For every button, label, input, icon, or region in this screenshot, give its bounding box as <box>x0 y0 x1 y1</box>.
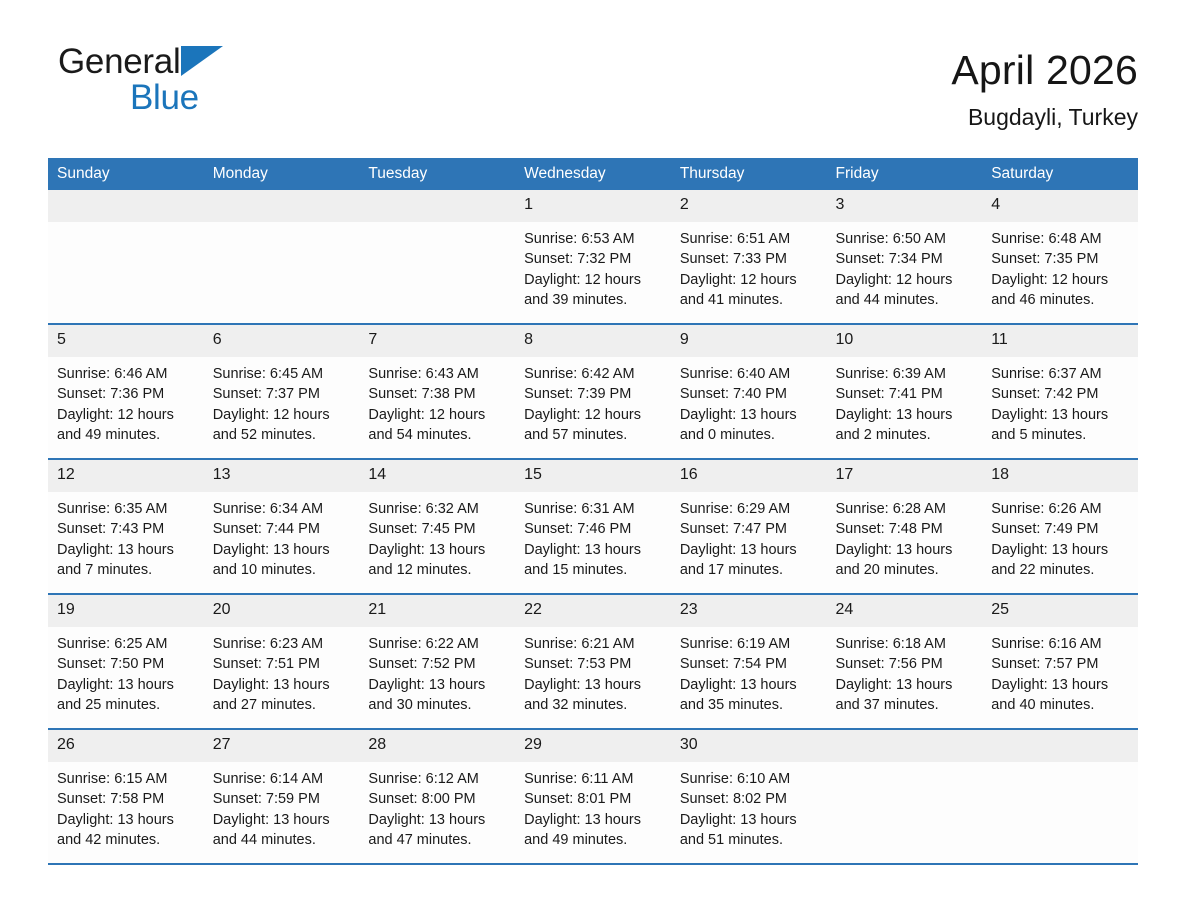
weekday-header-saturday: Saturday <box>982 158 1138 190</box>
sunset-text: Sunset: 7:57 PM <box>991 654 1132 674</box>
calendar-day-cell[interactable]: 15Sunrise: 6:31 AMSunset: 7:46 PMDayligh… <box>515 459 671 594</box>
sunset-text: Sunset: 7:48 PM <box>836 519 977 539</box>
day-number: 16 <box>671 460 827 492</box>
sunrise-text: Sunrise: 6:51 AM <box>680 229 821 249</box>
daylight-text: Daylight: 13 hours <box>213 675 354 695</box>
calendar-day-cell[interactable]: 11Sunrise: 6:37 AMSunset: 7:42 PMDayligh… <box>982 324 1138 459</box>
sunset-text: Sunset: 7:32 PM <box>524 249 665 269</box>
daylight-text: Daylight: 12 hours <box>680 270 821 290</box>
calendar-day-cell[interactable]: 7Sunrise: 6:43 AMSunset: 7:38 PMDaylight… <box>359 324 515 459</box>
daylight-text-cont: and 42 minutes. <box>57 830 198 850</box>
day-number: 9 <box>671 325 827 357</box>
calendar-day-cell[interactable]: 10Sunrise: 6:39 AMSunset: 7:41 PMDayligh… <box>827 324 983 459</box>
sunset-text: Sunset: 7:52 PM <box>368 654 509 674</box>
calendar-week-row: 12Sunrise: 6:35 AMSunset: 7:43 PMDayligh… <box>48 459 1138 594</box>
day-number: 25 <box>982 595 1138 627</box>
sunrise-text: Sunrise: 6:29 AM <box>680 499 821 519</box>
day-details: Sunrise: 6:12 AMSunset: 8:00 PMDaylight:… <box>359 762 515 851</box>
day-number: 28 <box>359 730 515 762</box>
sunrise-text: Sunrise: 6:18 AM <box>836 634 977 654</box>
sunset-text: Sunset: 7:35 PM <box>991 249 1132 269</box>
sunrise-text: Sunrise: 6:19 AM <box>680 634 821 654</box>
day-number: 30 <box>671 730 827 762</box>
calendar-day-cell[interactable]: 20Sunrise: 6:23 AMSunset: 7:51 PMDayligh… <box>204 594 360 729</box>
daylight-text: Daylight: 13 hours <box>680 540 821 560</box>
sunrise-text: Sunrise: 6:37 AM <box>991 364 1132 384</box>
sunset-text: Sunset: 7:39 PM <box>524 384 665 404</box>
sunrise-text: Sunrise: 6:21 AM <box>524 634 665 654</box>
daylight-text-cont: and 35 minutes. <box>680 695 821 715</box>
day-number: 12 <box>48 460 204 492</box>
logo-top-row: General <box>58 44 298 79</box>
page-title: April 2026 <box>951 46 1138 94</box>
calendar-day-cell[interactable]: 3Sunrise: 6:50 AMSunset: 7:34 PMDaylight… <box>827 190 983 324</box>
sunset-text: Sunset: 7:33 PM <box>680 249 821 269</box>
calendar-day-cell[interactable]: 29Sunrise: 6:11 AMSunset: 8:01 PMDayligh… <box>515 729 671 864</box>
day-details: Sunrise: 6:18 AMSunset: 7:56 PMDaylight:… <box>827 627 983 716</box>
sunset-text: Sunset: 7:59 PM <box>213 789 354 809</box>
daylight-text: Daylight: 13 hours <box>680 810 821 830</box>
daylight-text: Daylight: 12 hours <box>57 405 198 425</box>
sunrise-text: Sunrise: 6:11 AM <box>524 769 665 789</box>
day-number: 7 <box>359 325 515 357</box>
day-details: Sunrise: 6:39 AMSunset: 7:41 PMDaylight:… <box>827 357 983 446</box>
day-details: Sunrise: 6:45 AMSunset: 7:37 PMDaylight:… <box>204 357 360 446</box>
day-number: 2 <box>671 190 827 222</box>
daylight-text: Daylight: 12 hours <box>368 405 509 425</box>
sunset-text: Sunset: 8:02 PM <box>680 789 821 809</box>
day-number: 27 <box>204 730 360 762</box>
day-number: 22 <box>515 595 671 627</box>
calendar-week-row: 5Sunrise: 6:46 AMSunset: 7:36 PMDaylight… <box>48 324 1138 459</box>
calendar-day-cell[interactable]: 18Sunrise: 6:26 AMSunset: 7:49 PMDayligh… <box>982 459 1138 594</box>
day-number: 1 <box>515 190 671 222</box>
day-details: Sunrise: 6:35 AMSunset: 7:43 PMDaylight:… <box>48 492 204 581</box>
daylight-text-cont: and 0 minutes. <box>680 425 821 445</box>
daylight-text: Daylight: 13 hours <box>991 540 1132 560</box>
sunset-text: Sunset: 7:49 PM <box>991 519 1132 539</box>
daylight-text: Daylight: 13 hours <box>368 540 509 560</box>
calendar-day-cell[interactable]: 19Sunrise: 6:25 AMSunset: 7:50 PMDayligh… <box>48 594 204 729</box>
calendar-day-cell-empty <box>359 190 515 324</box>
calendar-day-cell[interactable]: 6Sunrise: 6:45 AMSunset: 7:37 PMDaylight… <box>204 324 360 459</box>
day-details: Sunrise: 6:29 AMSunset: 7:47 PMDaylight:… <box>671 492 827 581</box>
sunset-text: Sunset: 8:00 PM <box>368 789 509 809</box>
generalblue-logo[interactable]: General Blue <box>58 44 298 120</box>
sunset-text: Sunset: 7:51 PM <box>213 654 354 674</box>
sunrise-text: Sunrise: 6:28 AM <box>836 499 977 519</box>
day-details: Sunrise: 6:23 AMSunset: 7:51 PMDaylight:… <box>204 627 360 716</box>
daylight-text: Daylight: 13 hours <box>524 540 665 560</box>
calendar-day-cell[interactable]: 27Sunrise: 6:14 AMSunset: 7:59 PMDayligh… <box>204 729 360 864</box>
daylight-text-cont: and 52 minutes. <box>213 425 354 445</box>
day-number: 17 <box>827 460 983 492</box>
weekday-header-monday: Monday <box>204 158 360 190</box>
daylight-text: Daylight: 13 hours <box>524 675 665 695</box>
daylight-text-cont: and 2 minutes. <box>836 425 977 445</box>
daylight-text: Daylight: 13 hours <box>680 405 821 425</box>
daylight-text-cont: and 46 minutes. <box>991 290 1132 310</box>
day-number <box>359 190 515 222</box>
daylight-text-cont: and 39 minutes. <box>524 290 665 310</box>
daylight-text-cont: and 7 minutes. <box>57 560 198 580</box>
daylight-text-cont: and 41 minutes. <box>680 290 821 310</box>
calendar-week-row: 26Sunrise: 6:15 AMSunset: 7:58 PMDayligh… <box>48 729 1138 864</box>
calendar-day-cell[interactable]: 30Sunrise: 6:10 AMSunset: 8:02 PMDayligh… <box>671 729 827 864</box>
calendar-day-cell[interactable]: 23Sunrise: 6:19 AMSunset: 7:54 PMDayligh… <box>671 594 827 729</box>
sunrise-text: Sunrise: 6:25 AM <box>57 634 198 654</box>
calendar-day-cell[interactable]: 1Sunrise: 6:53 AMSunset: 7:32 PMDaylight… <box>515 190 671 324</box>
daylight-text-cont: and 32 minutes. <box>524 695 665 715</box>
day-number: 3 <box>827 190 983 222</box>
sunset-text: Sunset: 7:42 PM <box>991 384 1132 404</box>
daylight-text: Daylight: 12 hours <box>524 405 665 425</box>
daylight-text-cont: and 20 minutes. <box>836 560 977 580</box>
daylight-text-cont: and 51 minutes. <box>680 830 821 850</box>
sunset-text: Sunset: 7:46 PM <box>524 519 665 539</box>
calendar-day-cell[interactable]: 24Sunrise: 6:18 AMSunset: 7:56 PMDayligh… <box>827 594 983 729</box>
weekday-header-friday: Friday <box>827 158 983 190</box>
sunrise-text: Sunrise: 6:14 AM <box>213 769 354 789</box>
daylight-text: Daylight: 13 hours <box>368 810 509 830</box>
sunrise-text: Sunrise: 6:31 AM <box>524 499 665 519</box>
calendar-day-cell[interactable]: 13Sunrise: 6:34 AMSunset: 7:44 PMDayligh… <box>204 459 360 594</box>
calendar-day-cell[interactable]: 28Sunrise: 6:12 AMSunset: 8:00 PMDayligh… <box>359 729 515 864</box>
day-details: Sunrise: 6:21 AMSunset: 7:53 PMDaylight:… <box>515 627 671 716</box>
calendar-body: 1Sunrise: 6:53 AMSunset: 7:32 PMDaylight… <box>48 190 1138 864</box>
day-details: Sunrise: 6:14 AMSunset: 7:59 PMDaylight:… <box>204 762 360 851</box>
daylight-text-cont: and 37 minutes. <box>836 695 977 715</box>
calendar-day-cell-empty <box>982 729 1138 864</box>
daylight-text-cont: and 5 minutes. <box>991 425 1132 445</box>
calendar-day-cell[interactable]: 16Sunrise: 6:29 AMSunset: 7:47 PMDayligh… <box>671 459 827 594</box>
calendar-day-cell-empty <box>204 190 360 324</box>
page-header: General Blue April 2026 Bugdayli, Turkey <box>0 0 1188 106</box>
sunrise-text: Sunrise: 6:32 AM <box>368 499 509 519</box>
sunset-text: Sunset: 7:45 PM <box>368 519 509 539</box>
weekday-header-sunday: Sunday <box>48 158 204 190</box>
weekday-header-wednesday: Wednesday <box>515 158 671 190</box>
day-number: 6 <box>204 325 360 357</box>
day-number <box>982 730 1138 762</box>
day-details: Sunrise: 6:11 AMSunset: 8:01 PMDaylight:… <box>515 762 671 851</box>
daylight-text: Daylight: 13 hours <box>836 675 977 695</box>
logo-triangle-icon <box>181 46 223 76</box>
sunset-text: Sunset: 7:47 PM <box>680 519 821 539</box>
sunrise-text: Sunrise: 6:12 AM <box>368 769 509 789</box>
day-details: Sunrise: 6:31 AMSunset: 7:46 PMDaylight:… <box>515 492 671 581</box>
day-details: Sunrise: 6:50 AMSunset: 7:34 PMDaylight:… <box>827 222 983 311</box>
calendar-day-cell[interactable]: 14Sunrise: 6:32 AMSunset: 7:45 PMDayligh… <box>359 459 515 594</box>
daylight-text-cont: and 57 minutes. <box>524 425 665 445</box>
day-details: Sunrise: 6:25 AMSunset: 7:50 PMDaylight:… <box>48 627 204 716</box>
calendar-day-cell[interactable]: 5Sunrise: 6:46 AMSunset: 7:36 PMDaylight… <box>48 324 204 459</box>
day-details: Sunrise: 6:51 AMSunset: 7:33 PMDaylight:… <box>671 222 827 311</box>
day-details: Sunrise: 6:48 AMSunset: 7:35 PMDaylight:… <box>982 222 1138 311</box>
daylight-text: Daylight: 12 hours <box>991 270 1132 290</box>
day-number <box>48 190 204 222</box>
daylight-text-cont: and 40 minutes. <box>991 695 1132 715</box>
sunrise-text: Sunrise: 6:10 AM <box>680 769 821 789</box>
daylight-text: Daylight: 13 hours <box>836 540 977 560</box>
day-number: 15 <box>515 460 671 492</box>
daylight-text: Daylight: 13 hours <box>524 810 665 830</box>
day-number: 10 <box>827 325 983 357</box>
calendar-page: General Blue April 2026 Bugdayli, Turkey… <box>0 0 1188 918</box>
day-number: 5 <box>48 325 204 357</box>
sunset-text: Sunset: 7:36 PM <box>57 384 198 404</box>
daylight-text-cont: and 17 minutes. <box>680 560 821 580</box>
logo-text-general: General <box>58 44 180 79</box>
sunrise-text: Sunrise: 6:35 AM <box>57 499 198 519</box>
weekday-header-tuesday: Tuesday <box>359 158 515 190</box>
sunrise-text: Sunrise: 6:26 AM <box>991 499 1132 519</box>
daylight-text-cont: and 22 minutes. <box>991 560 1132 580</box>
calendar-day-cell[interactable]: 9Sunrise: 6:40 AMSunset: 7:40 PMDaylight… <box>671 324 827 459</box>
day-number: 4 <box>982 190 1138 222</box>
daylight-text-cont: and 49 minutes. <box>524 830 665 850</box>
daylight-text-cont: and 12 minutes. <box>368 560 509 580</box>
calendar-week-row: 19Sunrise: 6:25 AMSunset: 7:50 PMDayligh… <box>48 594 1138 729</box>
day-number: 18 <box>982 460 1138 492</box>
sunset-text: Sunset: 8:01 PM <box>524 789 665 809</box>
daylight-text-cont: and 15 minutes. <box>524 560 665 580</box>
sunset-text: Sunset: 7:44 PM <box>213 519 354 539</box>
daylight-text: Daylight: 13 hours <box>57 675 198 695</box>
daylight-text: Daylight: 13 hours <box>836 405 977 425</box>
daylight-text: Daylight: 13 hours <box>368 675 509 695</box>
calendar-day-cell[interactable]: 12Sunrise: 6:35 AMSunset: 7:43 PMDayligh… <box>48 459 204 594</box>
sunrise-text: Sunrise: 6:45 AM <box>213 364 354 384</box>
day-number <box>204 190 360 222</box>
day-details: Sunrise: 6:10 AMSunset: 8:02 PMDaylight:… <box>671 762 827 851</box>
sunset-text: Sunset: 7:38 PM <box>368 384 509 404</box>
day-details: Sunrise: 6:42 AMSunset: 7:39 PMDaylight:… <box>515 357 671 446</box>
sunrise-text: Sunrise: 6:16 AM <box>991 634 1132 654</box>
daylight-text-cont: and 27 minutes. <box>213 695 354 715</box>
calendar-day-cell-empty <box>827 729 983 864</box>
day-number <box>827 730 983 762</box>
day-number: 19 <box>48 595 204 627</box>
sunset-text: Sunset: 7:53 PM <box>524 654 665 674</box>
day-details: Sunrise: 6:40 AMSunset: 7:40 PMDaylight:… <box>671 357 827 446</box>
calendar-week-row: 1Sunrise: 6:53 AMSunset: 7:32 PMDaylight… <box>48 190 1138 324</box>
daylight-text: Daylight: 13 hours <box>213 810 354 830</box>
daylight-text: Daylight: 12 hours <box>524 270 665 290</box>
daylight-text-cont: and 47 minutes. <box>368 830 509 850</box>
daylight-text-cont: and 44 minutes. <box>213 830 354 850</box>
day-details: Sunrise: 6:22 AMSunset: 7:52 PMDaylight:… <box>359 627 515 716</box>
sunset-text: Sunset: 7:58 PM <box>57 789 198 809</box>
day-details: Sunrise: 6:28 AMSunset: 7:48 PMDaylight:… <box>827 492 983 581</box>
daylight-text: Daylight: 13 hours <box>57 810 198 830</box>
daylight-text: Daylight: 13 hours <box>213 540 354 560</box>
sunrise-text: Sunrise: 6:50 AM <box>836 229 977 249</box>
day-number: 23 <box>671 595 827 627</box>
daylight-text-cont: and 54 minutes. <box>368 425 509 445</box>
day-details: Sunrise: 6:15 AMSunset: 7:58 PMDaylight:… <box>48 762 204 851</box>
daylight-text-cont: and 10 minutes. <box>213 560 354 580</box>
day-details: Sunrise: 6:34 AMSunset: 7:44 PMDaylight:… <box>204 492 360 581</box>
calendar-day-cell-empty <box>48 190 204 324</box>
calendar-day-cell[interactable]: 2Sunrise: 6:51 AMSunset: 7:33 PMDaylight… <box>671 190 827 324</box>
sunrise-text: Sunrise: 6:15 AM <box>57 769 198 789</box>
daylight-text: Daylight: 13 hours <box>991 675 1132 695</box>
title-block: April 2026 Bugdayli, Turkey <box>951 44 1138 134</box>
sunset-text: Sunset: 7:37 PM <box>213 384 354 404</box>
weekday-header-thursday: Thursday <box>671 158 827 190</box>
calendar-day-cell[interactable]: 26Sunrise: 6:15 AMSunset: 7:58 PMDayligh… <box>48 729 204 864</box>
day-number: 21 <box>359 595 515 627</box>
daylight-text: Daylight: 12 hours <box>213 405 354 425</box>
sunset-text: Sunset: 7:54 PM <box>680 654 821 674</box>
sunrise-sunset-calendar: Sunday Monday Tuesday Wednesday Thursday… <box>48 158 1138 865</box>
day-details: Sunrise: 6:19 AMSunset: 7:54 PMDaylight:… <box>671 627 827 716</box>
sunrise-text: Sunrise: 6:46 AM <box>57 364 198 384</box>
calendar-day-cell[interactable]: 25Sunrise: 6:16 AMSunset: 7:57 PMDayligh… <box>982 594 1138 729</box>
day-number: 26 <box>48 730 204 762</box>
day-number: 8 <box>515 325 671 357</box>
daylight-text-cont: and 44 minutes. <box>836 290 977 310</box>
calendar-header-row: Sunday Monday Tuesday Wednesday Thursday… <box>48 158 1138 190</box>
day-number: 29 <box>515 730 671 762</box>
sunrise-text: Sunrise: 6:42 AM <box>524 364 665 384</box>
calendar-day-cell[interactable]: 21Sunrise: 6:22 AMSunset: 7:52 PMDayligh… <box>359 594 515 729</box>
daylight-text-cont: and 25 minutes. <box>57 695 198 715</box>
sunset-text: Sunset: 7:56 PM <box>836 654 977 674</box>
sunrise-text: Sunrise: 6:39 AM <box>836 364 977 384</box>
day-number: 24 <box>827 595 983 627</box>
sunset-text: Sunset: 7:50 PM <box>57 654 198 674</box>
sunrise-text: Sunrise: 6:53 AM <box>524 229 665 249</box>
calendar-day-cell[interactable]: 4Sunrise: 6:48 AMSunset: 7:35 PMDaylight… <box>982 190 1138 324</box>
daylight-text-cont: and 30 minutes. <box>368 695 509 715</box>
sunset-text: Sunset: 7:43 PM <box>57 519 198 539</box>
day-number: 11 <box>982 325 1138 357</box>
calendar-day-cell[interactable]: 17Sunrise: 6:28 AMSunset: 7:48 PMDayligh… <box>827 459 983 594</box>
logo-text-blue: Blue <box>130 80 298 115</box>
daylight-text: Daylight: 13 hours <box>680 675 821 695</box>
day-number: 14 <box>359 460 515 492</box>
weekday-header-row: Sunday Monday Tuesday Wednesday Thursday… <box>48 158 1138 190</box>
daylight-text: Daylight: 13 hours <box>57 540 198 560</box>
day-details: Sunrise: 6:37 AMSunset: 7:42 PMDaylight:… <box>982 357 1138 446</box>
day-details: Sunrise: 6:26 AMSunset: 7:49 PMDaylight:… <box>982 492 1138 581</box>
day-details: Sunrise: 6:43 AMSunset: 7:38 PMDaylight:… <box>359 357 515 446</box>
day-details: Sunrise: 6:16 AMSunset: 7:57 PMDaylight:… <box>982 627 1138 716</box>
day-number: 20 <box>204 595 360 627</box>
sunset-text: Sunset: 7:40 PM <box>680 384 821 404</box>
sunset-text: Sunset: 7:34 PM <box>836 249 977 269</box>
daylight-text: Daylight: 13 hours <box>991 405 1132 425</box>
calendar-day-cell[interactable]: 22Sunrise: 6:21 AMSunset: 7:53 PMDayligh… <box>515 594 671 729</box>
sunrise-text: Sunrise: 6:22 AM <box>368 634 509 654</box>
calendar-day-cell[interactable]: 8Sunrise: 6:42 AMSunset: 7:39 PMDaylight… <box>515 324 671 459</box>
day-details: Sunrise: 6:46 AMSunset: 7:36 PMDaylight:… <box>48 357 204 446</box>
daylight-text-cont: and 49 minutes. <box>57 425 198 445</box>
location-subtitle: Bugdayli, Turkey <box>951 100 1138 134</box>
daylight-text: Daylight: 12 hours <box>836 270 977 290</box>
sunrise-text: Sunrise: 6:48 AM <box>991 229 1132 249</box>
day-details: Sunrise: 6:53 AMSunset: 7:32 PMDaylight:… <box>515 222 671 311</box>
day-number: 13 <box>204 460 360 492</box>
sunrise-text: Sunrise: 6:23 AM <box>213 634 354 654</box>
sunset-text: Sunset: 7:41 PM <box>836 384 977 404</box>
sunrise-text: Sunrise: 6:34 AM <box>213 499 354 519</box>
sunrise-text: Sunrise: 6:43 AM <box>368 364 509 384</box>
day-details: Sunrise: 6:32 AMSunset: 7:45 PMDaylight:… <box>359 492 515 581</box>
sunrise-text: Sunrise: 6:40 AM <box>680 364 821 384</box>
